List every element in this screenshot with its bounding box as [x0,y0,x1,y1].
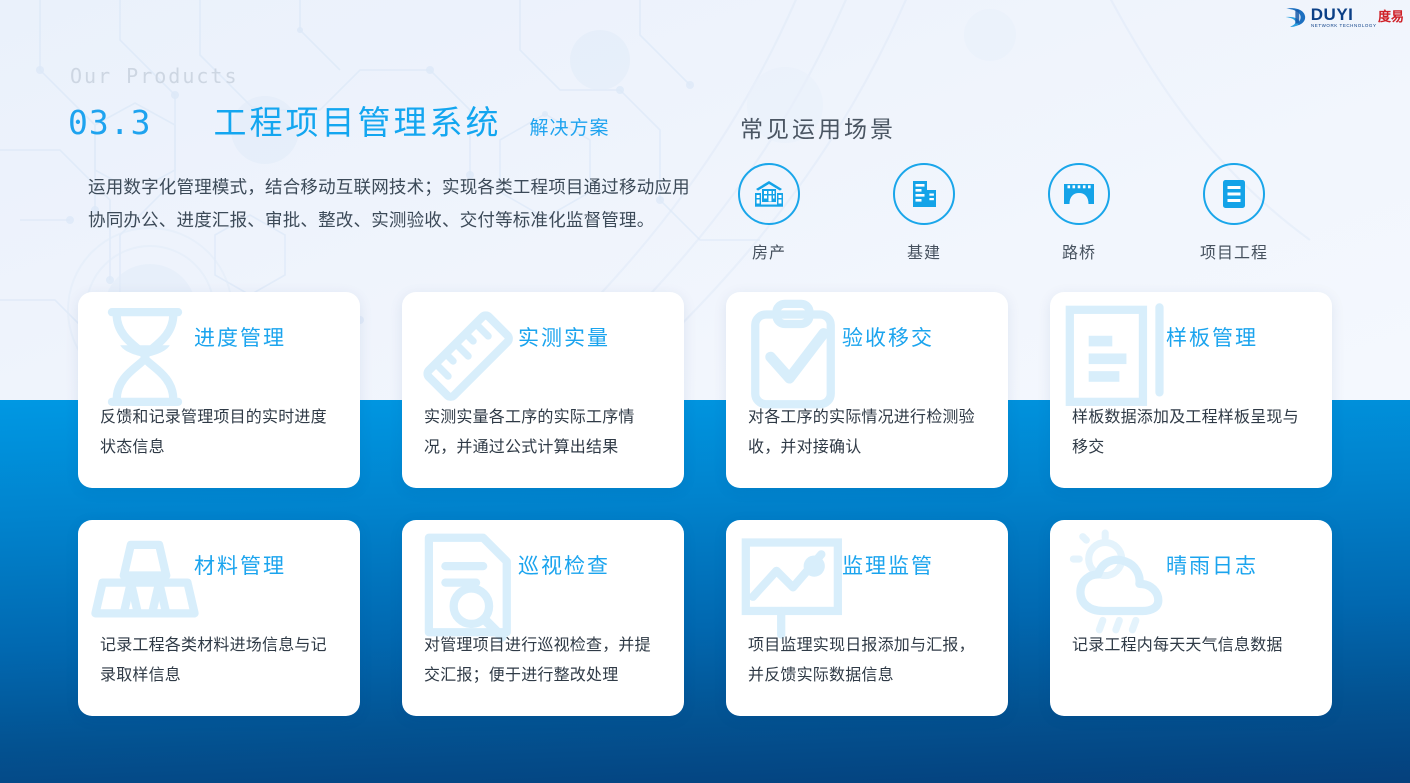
feature-card-weather-log[interactable]: 晴雨日志 记录工程内每天天气信息数据 [1050,520,1332,716]
page-title: 03.3 工程项目管理系统 解决方案 [68,96,610,144]
image-chart-icon [734,526,852,644]
scene-label: 基建 [907,239,941,263]
card-description: 样板数据添加及工程样板呈现与移交 [1072,402,1314,462]
section-number: 03.3 [68,103,151,142]
card-description: 对各工序的实际情况进行检测验收，并对接确认 [748,402,990,462]
scene-label: 路桥 [1062,239,1096,263]
scene-icon-circle [738,163,800,225]
scene-item-luqiao[interactable]: 路桥 [1043,163,1115,263]
feature-card-supervision[interactable]: 监理监管 项目监理实现日报添加与汇报，并反馈实际数据信息 [726,520,1008,716]
scene-icon-circle [893,163,955,225]
duyi-logo-mark-icon [1283,4,1309,30]
weather-cloud-sun-icon [1058,526,1176,644]
scene-item-fangchan[interactable]: 房产 [733,163,805,263]
card-title: 样板管理 [1050,322,1332,352]
card-title: 监理监管 [726,550,1008,580]
card-title: 进度管理 [78,322,360,352]
card-description: 项目监理实现日报添加与汇报，并反馈实际数据信息 [748,630,990,690]
feature-card-progress[interactable]: 进度管理 反馈和记录管理项目的实时进度状态信息 [78,292,360,488]
card-description: 对管理项目进行巡视检查，并提交汇报；便于进行整改处理 [424,630,666,690]
section-title: 工程项目管理系统 [213,96,501,144]
scene-label: 房产 [752,239,786,263]
office-tower-icon [907,177,941,211]
card-title: 晴雨日志 [1050,550,1332,580]
ruler-icon [410,298,528,416]
scene-icon-circle [1048,163,1110,225]
building-house-icon [752,177,786,211]
card-description: 记录工程内每天天气信息数据 [1072,630,1314,660]
logo-wordmark: DUYI [1311,6,1375,23]
feature-cards-grid: 进度管理 反馈和记录管理项目的实时进度状态信息 实测实量 实测实量各工序 [78,292,1332,716]
intro-paragraph: 运用数字化管理模式，结合移动互联网技术；实现各类工程项目通过移动应用协同办公、进… [88,172,698,238]
logo-text: DUYI NETWORK TECHNOLOGY [1311,6,1375,28]
card-title: 巡视检查 [402,550,684,580]
scenes-list: 房产 [733,163,1270,263]
feature-card-material[interactable]: 材料管理 记录工程各类材料进场信息与记录取样信息 [78,520,360,716]
section-subtitle: 解决方案 [529,113,609,140]
card-title: 验收移交 [726,322,1008,352]
feature-card-acceptance[interactable]: 验收移交 对各工序的实际情况进行检测验收，并对接确认 [726,292,1008,488]
clipboard-check-icon [734,298,852,416]
scene-label: 项目工程 [1200,239,1268,263]
card-title: 材料管理 [78,550,360,580]
logo-tagline: NETWORK TECHNOLOGY [1311,24,1377,28]
bridge-icon [1061,179,1097,209]
eyebrow-label: Our Products [70,64,239,88]
hourglass-icon [86,298,204,416]
document-search-icon [410,526,528,644]
logo-chinese-name: 度易 [1378,11,1404,24]
slide-root: DUYI NETWORK TECHNOLOGY 度易 Our Products … [0,0,1410,783]
document-board-icon [1058,298,1176,416]
material-stack-icon [86,526,204,644]
scene-item-jijian[interactable]: 基建 [888,163,960,263]
brand-logo: DUYI NETWORK TECHNOLOGY 度易 [1283,2,1404,32]
card-description: 记录工程各类材料进场信息与记录取样信息 [100,630,342,690]
card-title: 实测实量 [402,322,684,352]
document-lines-icon [1219,177,1249,211]
scenes-heading: 常见运用场景 [740,110,896,144]
feature-card-template[interactable]: 样板管理 样板数据添加及工程样板呈现与移交 [1050,292,1332,488]
feature-card-measurement[interactable]: 实测实量 实测实量各工序的实际工序情况，并通过公式计算出结果 [402,292,684,488]
card-description: 反馈和记录管理项目的实时进度状态信息 [100,402,342,462]
scene-item-xiangmugongcheng[interactable]: 项目工程 [1198,163,1270,263]
scene-icon-circle [1203,163,1265,225]
feature-card-inspection[interactable]: 巡视检查 对管理项目进行巡视检查，并提交汇报；便于进行整改处理 [402,520,684,716]
card-description: 实测实量各工序的实际工序情况，并通过公式计算出结果 [424,402,666,462]
